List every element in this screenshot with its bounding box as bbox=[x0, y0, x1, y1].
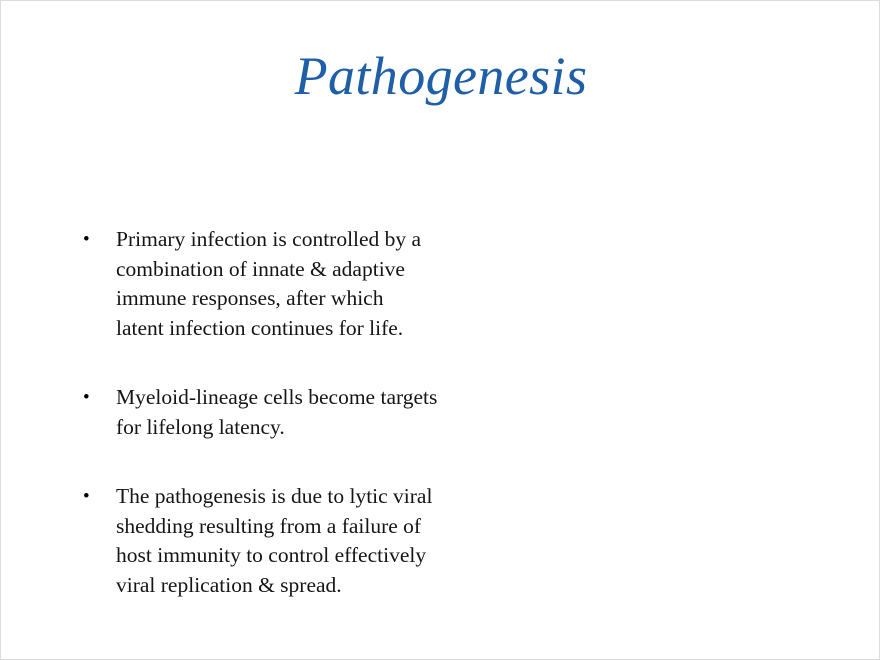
bullet-point-icon: • bbox=[83, 383, 97, 413]
bullet-text: The pathogenesis is due to lytic viral s… bbox=[116, 482, 549, 600]
bullet-list-item: • Myeloid-lineage cells become targets f… bbox=[79, 383, 549, 442]
bullet-list-item: • The pathogenesis is due to lytic viral… bbox=[79, 482, 549, 600]
bullet-point-icon: • bbox=[83, 225, 97, 255]
slide-body-content: • Primary infection is controlled by a c… bbox=[79, 225, 549, 600]
slide-title: Pathogenesis bbox=[1, 47, 880, 105]
bullet-text: Primary infection is controlled by a com… bbox=[116, 225, 549, 343]
bullet-text: Myeloid-lineage cells become targets for… bbox=[116, 383, 549, 442]
bullet-point-icon: • bbox=[83, 482, 97, 512]
presentation-slide: Pathogenesis • Primary infection is cont… bbox=[0, 0, 880, 660]
bullet-list-item: • Primary infection is controlled by a c… bbox=[79, 225, 549, 343]
